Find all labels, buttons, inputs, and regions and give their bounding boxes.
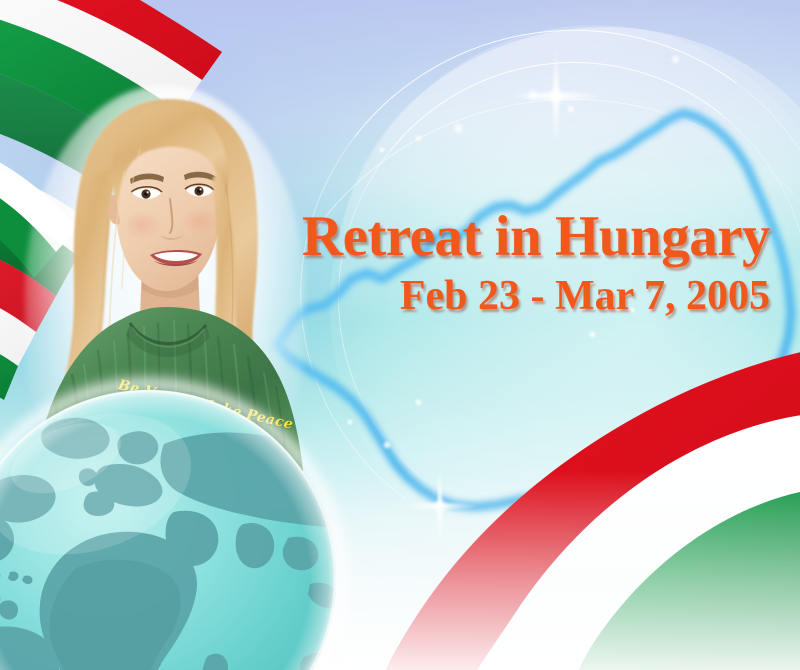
retreat-poster: Be Vegan Make Peace: [0, 0, 800, 670]
title-block: Retreat in Hungary Feb 23 - Mar 7, 2005: [0, 208, 788, 317]
page-title: Retreat in Hungary: [0, 208, 770, 265]
globe-icon: [0, 388, 338, 670]
date-range: Feb 23 - Mar 7, 2005: [0, 275, 770, 317]
